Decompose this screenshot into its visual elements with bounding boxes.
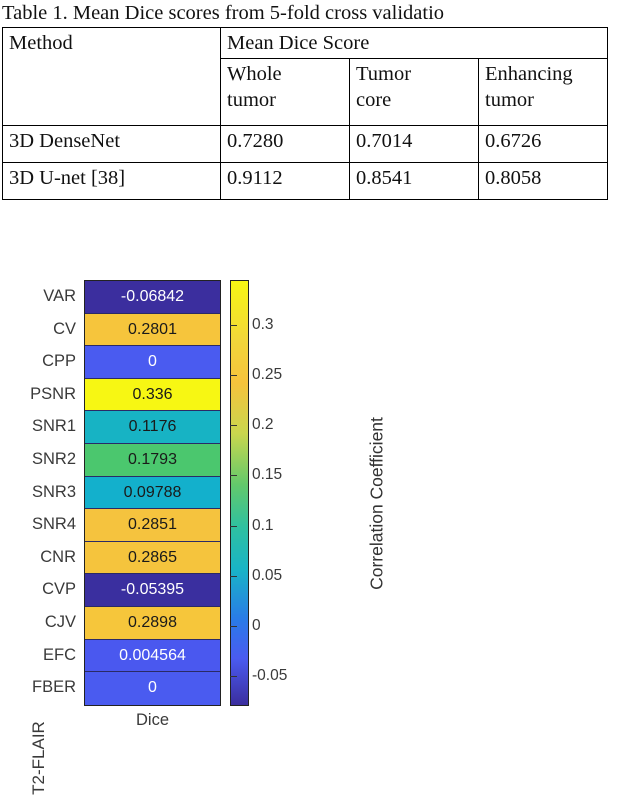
heatmap-row-label: SNR3 bbox=[18, 476, 80, 509]
table-caption: Table 1. Mean Dice scores from 5-fold cr… bbox=[0, 0, 640, 27]
heatmap-row-label: EFC bbox=[18, 639, 80, 672]
heatmap-row-label: SNR2 bbox=[18, 443, 80, 476]
cell-method: 3D DenseNet bbox=[3, 126, 221, 163]
subheader-line2: tumor bbox=[485, 87, 601, 113]
colorbar-tick-label: 0.05 bbox=[252, 567, 282, 585]
heatmap-cell: 0.336 bbox=[85, 379, 220, 412]
heatmap-row-label: FBER bbox=[18, 671, 80, 704]
heatmap-row-label: SNR1 bbox=[18, 410, 80, 443]
cell-enhancing-tumor: 0.6726 bbox=[479, 126, 608, 163]
heatmap-row-label: CV bbox=[18, 313, 80, 346]
heatmap-cell: 0.2851 bbox=[85, 509, 220, 542]
table-row: 3D U-net [38] 0.9112 0.8541 0.8058 bbox=[3, 163, 608, 200]
cell-enhancing-tumor: 0.8058 bbox=[479, 163, 608, 200]
heatmap-row-label: PSNR bbox=[18, 378, 80, 411]
heatmap-cell: 0.004564 bbox=[85, 640, 220, 673]
subheader-line1: Whole bbox=[227, 61, 343, 87]
heatmap-cell: 0.1793 bbox=[85, 444, 220, 477]
subheader-line1: Tumor bbox=[356, 61, 472, 87]
colorbar-tick-label: 0.3 bbox=[252, 316, 274, 334]
heatmap-cell: 0 bbox=[85, 346, 220, 379]
subheader-line2: tumor bbox=[227, 87, 343, 113]
colorbar-tick bbox=[230, 626, 237, 627]
subheader-line1: Enhancing bbox=[485, 61, 601, 87]
colorbar-tick-label: -0.05 bbox=[252, 667, 287, 685]
heatmap-row-label: CPP bbox=[18, 345, 80, 378]
heatmap-grid: -0.068420.280100.3360.11760.17930.097880… bbox=[84, 280, 221, 706]
heatmap-cell: 0.2801 bbox=[85, 314, 220, 347]
colorbar-tick-label: 0.15 bbox=[252, 466, 282, 484]
heatmap-row-label: CJV bbox=[18, 606, 80, 639]
mean-dice-scores-table: Method Mean Dice Score Whole tumor Tumor… bbox=[2, 27, 608, 200]
subheader-line2: core bbox=[356, 87, 472, 113]
cell-whole-tumor: 0.9112 bbox=[221, 163, 350, 200]
colorbar-gradient bbox=[230, 280, 249, 706]
heatmap-row-label: CVP bbox=[18, 573, 80, 606]
table-header-row-1: Method Mean Dice Score bbox=[3, 28, 608, 59]
heatmap-y-axis-label: T2-FLAIR bbox=[29, 713, 49, 803]
colorbar-tick bbox=[230, 526, 237, 527]
cell-method: 3D U-net [38] bbox=[3, 163, 221, 200]
heatmap-cell: 0.09788 bbox=[85, 477, 220, 510]
colorbar-tick-label: 0.1 bbox=[252, 517, 274, 535]
heatmap-row-labels: VARCVCPPPSNRSNR1SNR2SNR3SNR4CNRCVPCJVEFC… bbox=[18, 280, 80, 704]
colorbar-tick bbox=[230, 475, 237, 476]
heatmap-cell: -0.05395 bbox=[85, 574, 220, 607]
table-subheader-whole-tumor: Whole tumor bbox=[221, 59, 350, 126]
correlation-heatmap-figure: T2-FLAIR VARCVCPPPSNRSNR1SNR2SNR3SNR4CNR… bbox=[0, 268, 640, 755]
colorbar-tick bbox=[230, 576, 237, 577]
heatmap-row-label: SNR4 bbox=[18, 508, 80, 541]
heatmap-cell: 0.2865 bbox=[85, 542, 220, 575]
table-subheader-tumor-core: Tumor core bbox=[350, 59, 479, 126]
heatmap-row-label: CNR bbox=[18, 541, 80, 574]
table-subheader-enhancing-tumor: Enhancing tumor bbox=[479, 59, 608, 126]
heatmap-cell: 0.1176 bbox=[85, 411, 220, 444]
colorbar-tick-label: 0.25 bbox=[252, 366, 282, 384]
colorbar-tick-label: 0 bbox=[252, 617, 261, 635]
cell-tumor-core: 0.8541 bbox=[350, 163, 479, 200]
colorbar-tick-label: 0.2 bbox=[252, 416, 274, 434]
heatmap-cell: 0.2898 bbox=[85, 607, 220, 640]
colorbar-tick bbox=[230, 676, 237, 677]
table-header-method: Method bbox=[3, 28, 221, 126]
heatmap-cell: 0 bbox=[85, 672, 220, 705]
colorbar-wrap bbox=[230, 280, 249, 706]
heatmap-x-axis-label: Dice bbox=[84, 711, 221, 730]
table-row: 3D DenseNet 0.7280 0.7014 0.6726 bbox=[3, 126, 608, 163]
cell-whole-tumor: 0.7280 bbox=[221, 126, 350, 163]
dice-table-block: Table 1. Mean Dice scores from 5-fold cr… bbox=[0, 0, 640, 200]
colorbar-label: Correlation Coefficient bbox=[367, 374, 388, 634]
table-header-group: Mean Dice Score bbox=[221, 28, 608, 59]
heatmap-cell: -0.06842 bbox=[85, 281, 220, 314]
heatmap-row-label: VAR bbox=[18, 280, 80, 313]
colorbar-tick bbox=[230, 425, 237, 426]
cell-tumor-core: 0.7014 bbox=[350, 126, 479, 163]
colorbar-tick bbox=[230, 375, 237, 376]
colorbar-tick bbox=[230, 325, 237, 326]
